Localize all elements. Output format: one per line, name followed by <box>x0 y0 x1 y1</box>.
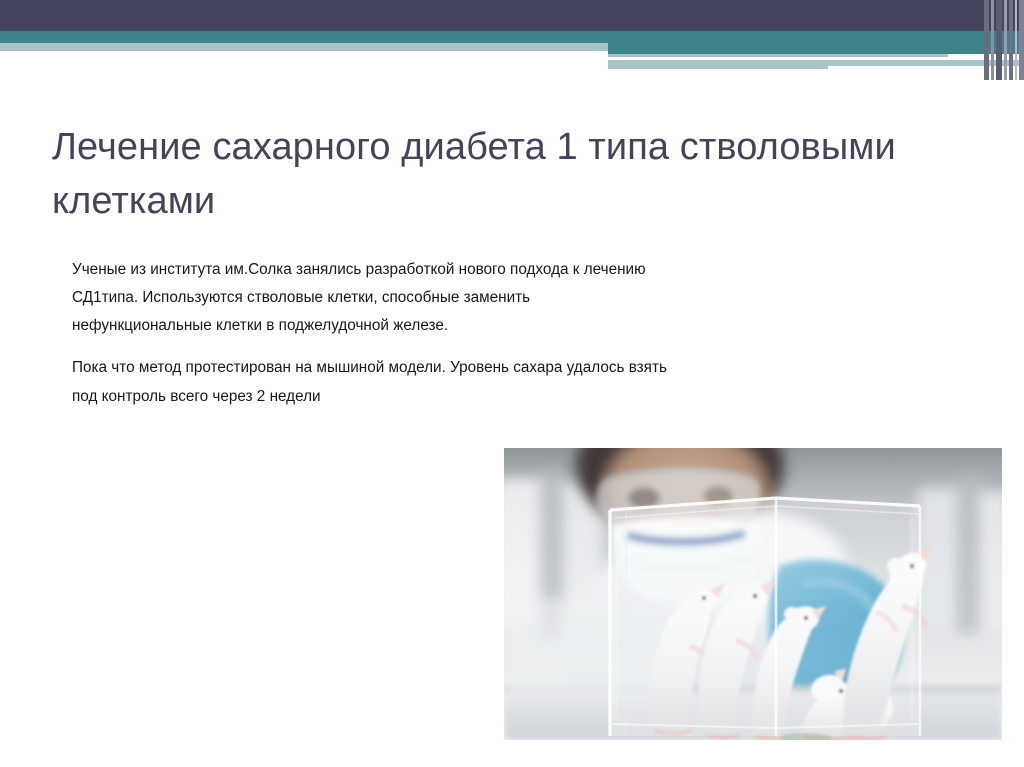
banner-stripe-3 <box>996 0 1002 80</box>
banner-stripe-6 <box>1015 0 1017 80</box>
banner-band-navy <box>0 0 1024 31</box>
body-paragraph-1: Ученые из института им.Солка занялись ра… <box>72 256 672 340</box>
banner-stripe-7 <box>1019 0 1024 80</box>
banner-vertical-stripes <box>984 0 1024 80</box>
slide-header-banner <box>0 0 1024 80</box>
banner-stripe-2 <box>991 0 994 80</box>
slide-body: Ученые из института им.Солка занялись ра… <box>72 256 672 411</box>
banner-stripe-1 <box>984 0 989 80</box>
banner-band-pale-left <box>0 43 612 51</box>
slide-title: Лечение сахарного диабета 1 типа стволов… <box>52 121 912 229</box>
lab-mice-photo <box>504 448 1002 740</box>
banner-stripe-5 <box>1009 0 1013 80</box>
banner-band-teal-right <box>608 43 1024 54</box>
body-paragraph-2: Пока что метод протестирован на мышиной … <box>72 354 672 410</box>
banner-band-teal <box>0 31 1024 43</box>
presentation-slide: Лечение сахарного диабета 1 типа стволов… <box>0 0 1024 767</box>
banner-stripe-4 <box>1004 0 1007 80</box>
